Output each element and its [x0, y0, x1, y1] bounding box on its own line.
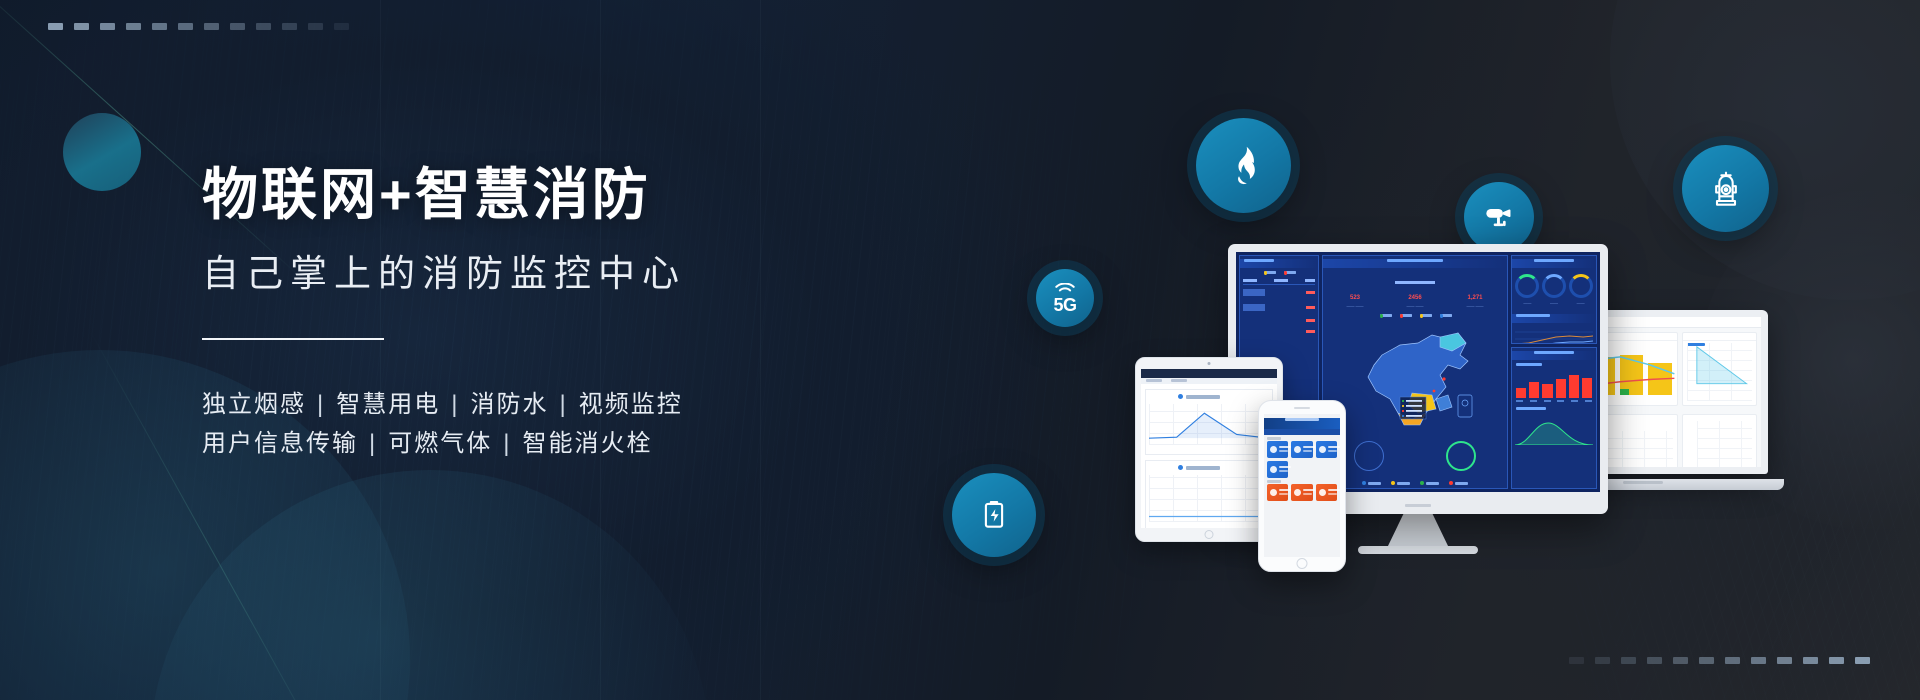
- phone-device[interactable]: [1258, 400, 1346, 572]
- flat-line-chart: [1149, 475, 1269, 519]
- tablet-screen: [1141, 369, 1277, 528]
- feature-item: 独立烟感: [202, 386, 306, 425]
- ring-chart-green: [1446, 441, 1476, 471]
- tablet-nav-item: [1146, 379, 1162, 382]
- 5g-label: 5G: [1053, 296, 1076, 314]
- decorative-dash: [1751, 657, 1766, 664]
- decorative-circle: [63, 113, 141, 191]
- list-item[interactable]: [1267, 441, 1288, 458]
- feature-item: 消防水: [470, 386, 548, 425]
- feature-item: 用户信息传输: [202, 425, 358, 464]
- panel-header: [1512, 259, 1596, 268]
- laptop-area-chart-card: [1682, 332, 1757, 406]
- page-title: 物联网+智慧消防: [202, 162, 922, 228]
- phone-speaker: [1294, 407, 1310, 409]
- feature-row: 用户信息传输|可燃气体|智能消火栓: [202, 425, 922, 464]
- panel-header: [1240, 259, 1318, 268]
- tablet-chart-card-1: [1145, 389, 1273, 455]
- decorative-dash: [1647, 657, 1662, 664]
- decorative-dash: [178, 23, 193, 30]
- alert-table: [1240, 277, 1318, 339]
- feature-row: 独立烟感|智慧用电|消防水|视频监控: [202, 386, 922, 425]
- list-item[interactable]: [1316, 441, 1337, 458]
- bottom-legend: [1323, 479, 1507, 487]
- decorative-dash: [1595, 657, 1610, 664]
- panel-subheader: [1512, 407, 1596, 416]
- kpi-item: 2456—— ——: [1406, 295, 1423, 308]
- monitor-brand-label: [1405, 504, 1431, 507]
- panel-legend: [1240, 271, 1318, 274]
- panel-subtitle: [1323, 271, 1507, 289]
- feature-item: 智慧用电: [336, 386, 440, 425]
- fire-icon-badge[interactable]: [1196, 118, 1291, 213]
- tablet-home-button[interactable]: [1205, 530, 1214, 539]
- list-item[interactable]: [1291, 484, 1312, 501]
- chart-dot-icon: [1178, 465, 1183, 470]
- feature-list: 独立烟感|智慧用电|消防水|视频监控用户信息传输|可燃气体|智能消火栓: [202, 386, 922, 464]
- phone-home-button[interactable]: [1297, 558, 1308, 569]
- laptop-axis-card: [1682, 414, 1757, 467]
- tablet-chart-card-2: [1145, 460, 1273, 528]
- feature-separator: |: [440, 386, 470, 425]
- gauge-item: ——: [1542, 274, 1566, 305]
- decorative-dash-row-bottom: [1569, 657, 1870, 664]
- decorative-dash: [100, 23, 115, 30]
- gauge-item: ——: [1569, 274, 1593, 305]
- decorative-dash: [1725, 657, 1740, 664]
- map-legend: [1323, 314, 1507, 317]
- list-item[interactable]: [1267, 484, 1288, 501]
- panel-subheader: [1512, 363, 1596, 372]
- divider: [202, 338, 384, 340]
- monitor-base: [1358, 546, 1478, 554]
- china-map: [1340, 321, 1490, 433]
- decorative-dash: [1829, 657, 1844, 664]
- hydrant-icon: [1706, 169, 1746, 209]
- kpi-item: 523—— ——: [1346, 295, 1363, 308]
- phone-app-header: [1264, 418, 1340, 429]
- decorative-dash: [1777, 657, 1792, 664]
- panel-header: [1323, 259, 1507, 268]
- list-item[interactable]: [1267, 461, 1288, 478]
- hero-banner: 物联网+智慧消防 自己掌上的消防监控中心 独立烟感|智慧用电|消防水|视频监控用…: [0, 0, 1920, 700]
- battery-icon: [976, 497, 1012, 533]
- line-chart-small: [1512, 323, 1596, 344]
- area-chart: [1512, 416, 1596, 453]
- panel-subheader: [1512, 314, 1596, 323]
- decorative-dash: [256, 23, 271, 30]
- chart-title: [1186, 395, 1220, 399]
- gauge-row-bottom: [1323, 433, 1507, 479]
- monitor-stand: [1387, 512, 1449, 548]
- kpi-item: 1,271—— ——: [1466, 295, 1483, 308]
- feature-separator: |: [548, 386, 578, 425]
- bar-chart: [1512, 372, 1596, 398]
- decorative-dash: [1621, 657, 1636, 664]
- 5g-icon-badge[interactable]: 5G: [1036, 269, 1094, 327]
- dashboard-panel-gauges: —— —— ——: [1511, 255, 1597, 344]
- list-item[interactable]: [1316, 484, 1337, 501]
- table-row: [1243, 326, 1315, 337]
- gauge-row: —— —— ——: [1512, 268, 1596, 311]
- decorative-dash: [1699, 657, 1714, 664]
- panel-header: [1512, 351, 1596, 360]
- decorative-dash: [1569, 657, 1584, 664]
- line-chart: [1149, 404, 1269, 441]
- decorative-dash: [152, 23, 167, 30]
- area-chart: [1695, 345, 1750, 386]
- chart-grid: [1697, 421, 1752, 467]
- dashboard-panel-bars: [1511, 347, 1597, 489]
- phone-screen: [1264, 414, 1340, 557]
- tablet-topbar: [1141, 369, 1277, 378]
- decorative-dash: [334, 23, 349, 30]
- ring-chart: [1354, 441, 1384, 471]
- feature-separator: |: [492, 425, 522, 464]
- dashboard-panel-map: 523—— —— 2456—— —— 1,271—— ——: [1322, 255, 1508, 489]
- feature-item: 视频监控: [579, 386, 683, 425]
- decorative-dash: [126, 23, 141, 30]
- camera-icon: [1483, 201, 1515, 233]
- hero-copy: 物联网+智慧消防 自己掌上的消防监控中心 独立烟感|智慧用电|消防水|视频监控用…: [202, 162, 922, 464]
- card-title: [1683, 333, 1756, 341]
- decorative-dash: [204, 23, 219, 30]
- decorative-dash: [1673, 657, 1688, 664]
- decorative-dash: [230, 23, 245, 30]
- list-item[interactable]: [1291, 441, 1312, 458]
- device-cluster: 523—— —— 2456—— —— 1,271—— ——: [1110, 282, 1910, 582]
- table-row: [1243, 300, 1315, 315]
- chart-title: [1186, 466, 1220, 470]
- decorative-dash: [74, 23, 89, 30]
- tablet-camera-dot: [1208, 362, 1211, 365]
- bar-chart-axis: [1512, 398, 1596, 404]
- chart-dot-icon: [1178, 394, 1183, 399]
- laptop-notch: [1623, 481, 1663, 484]
- decorative-dash: [48, 23, 63, 30]
- phone-tile-grid-orange: [1264, 484, 1340, 501]
- battery-icon-badge[interactable]: [952, 473, 1036, 557]
- feature-separator: |: [306, 386, 336, 425]
- decorative-dash: [282, 23, 297, 30]
- dashboard-right-column: —— —— ——: [1511, 255, 1597, 489]
- page-subtitle: 自己掌上的消防监控中心: [202, 252, 922, 296]
- table-row: [1243, 285, 1315, 300]
- feature-item: 可燃气体: [388, 425, 492, 464]
- decorative-dash: [1855, 657, 1870, 664]
- 5g-icon: 5G: [1053, 283, 1076, 314]
- feature-separator: |: [358, 425, 388, 464]
- decorative-dash-row-top: [48, 23, 349, 30]
- camera-icon-badge[interactable]: [1464, 182, 1534, 252]
- tablet-nav-item: [1171, 379, 1187, 382]
- decorative-dash: [308, 23, 323, 30]
- kpi-row: 523—— —— 2456—— —— 1,271—— ——: [1323, 289, 1507, 310]
- gauge-item: ——: [1515, 274, 1539, 305]
- feature-item: 智能消火栓: [522, 425, 652, 464]
- fire-icon: [1222, 144, 1266, 188]
- phone-tile-grid-blue: [1264, 441, 1340, 478]
- table-row: [1243, 315, 1315, 326]
- decorative-dash: [1803, 657, 1818, 664]
- hydrant-icon-badge[interactable]: [1682, 145, 1769, 232]
